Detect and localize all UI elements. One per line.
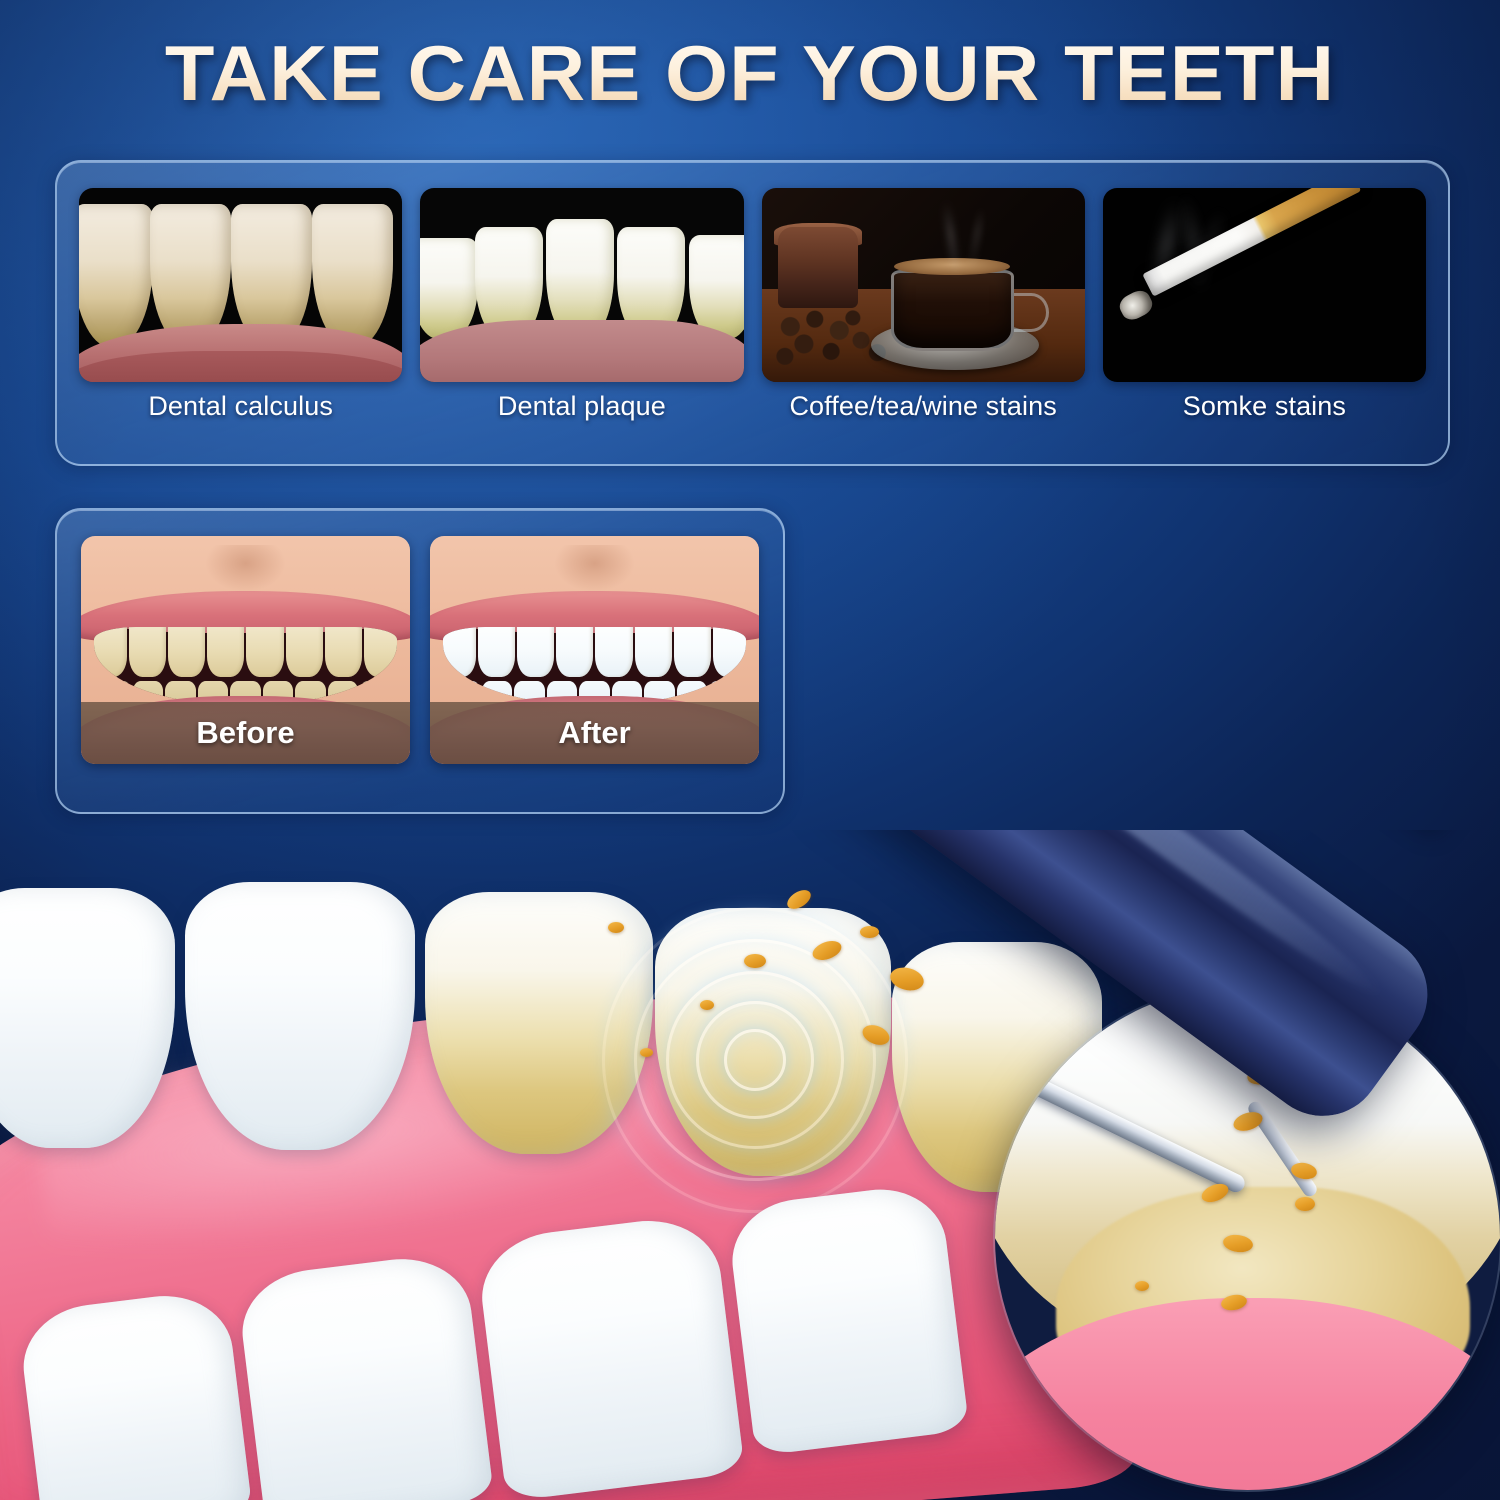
tartar-fleck xyxy=(744,954,766,968)
card-caption: Dental calculus xyxy=(79,391,402,422)
dental-calculus-image xyxy=(79,188,402,382)
scaler-white-band xyxy=(1368,830,1500,832)
coffee-stains-image xyxy=(762,188,1085,382)
card-caption: Somke stains xyxy=(1103,391,1426,422)
tartar-fleck xyxy=(640,1048,653,1057)
before-after-row: Before After xyxy=(57,510,783,812)
stain-source-card: Dental calculus xyxy=(79,188,402,464)
page-title: TAKE CARE OF YOUR TEETH xyxy=(0,34,1500,112)
dental-plaque-image xyxy=(420,188,743,382)
stain-sources-row: Dental calculus Dental plaque xyxy=(57,162,1448,464)
calculus-illustration xyxy=(79,188,402,382)
after-label: After xyxy=(430,702,759,764)
coffee-photo xyxy=(762,188,1085,382)
before-image: Before xyxy=(81,536,410,764)
stain-sources-panel: Dental calculus Dental plaque xyxy=(55,160,1450,466)
plaque-illustration xyxy=(420,188,743,382)
before-card: Before xyxy=(81,536,410,812)
card-caption: Dental plaque xyxy=(420,391,743,422)
product-infographic: TAKE CARE OF YOUR TEETH Dental calculus xyxy=(0,0,1500,1500)
stain-source-card: Somke stains xyxy=(1103,188,1426,464)
after-card: After xyxy=(430,536,759,812)
lower-molar xyxy=(475,1212,745,1500)
before-after-panel: Before After xyxy=(55,508,785,814)
stain-source-card: Coffee/tea/wine stains xyxy=(762,188,1085,464)
lower-molar xyxy=(236,1251,495,1500)
cigarette-photo xyxy=(1103,188,1426,382)
tartar-fleck xyxy=(608,922,624,933)
ultrasonic-scaler-demo xyxy=(0,830,1500,1500)
ultrasonic-dental-scaler[interactable] xyxy=(820,830,1500,1410)
molar-clean xyxy=(185,882,415,1150)
card-caption: Coffee/tea/wine stains xyxy=(762,391,1085,422)
after-image: After xyxy=(430,536,759,764)
scaler-handle xyxy=(834,830,1451,1140)
before-label: Before xyxy=(81,702,410,764)
lower-molar xyxy=(17,1288,253,1500)
tartar-fleck xyxy=(700,1000,714,1010)
smoke-stains-image xyxy=(1103,188,1426,382)
stain-source-card: Dental plaque xyxy=(420,188,743,464)
